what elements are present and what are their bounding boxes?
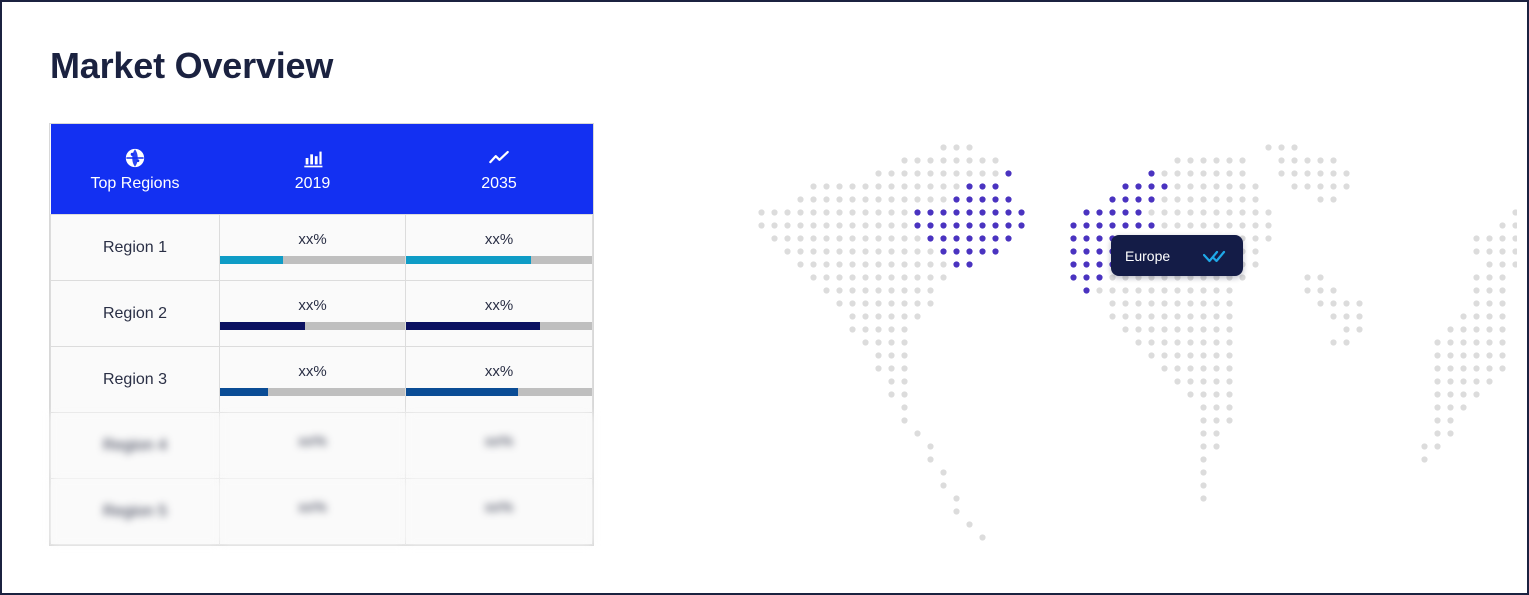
map-dot: [1226, 378, 1232, 384]
map-dot: [1460, 313, 1466, 319]
map-dot: [784, 248, 790, 254]
map-dot: [914, 196, 920, 202]
map-dot: [1122, 287, 1128, 293]
map-dot: [1174, 287, 1180, 293]
map-dot: [1200, 287, 1206, 293]
map-dot: [823, 222, 829, 228]
progress-bar-track: [406, 256, 592, 264]
map-dot-highlighted: [914, 209, 920, 215]
map-dot: [836, 261, 842, 267]
map-dot: [1330, 300, 1336, 306]
map-dot: [901, 248, 907, 254]
progress-bar-track: [406, 388, 592, 396]
map-dot: [823, 274, 829, 280]
map-dot: [1096, 287, 1102, 293]
map-dot: [875, 313, 881, 319]
map-dot: [1239, 170, 1245, 176]
map-dot: [940, 196, 946, 202]
map-dot: [1486, 326, 1492, 332]
map-dot: [1317, 287, 1323, 293]
map-dot: [940, 183, 946, 189]
page-title: Market Overview: [50, 46, 333, 86]
progress-bar-fill: [406, 322, 540, 330]
map-dot: [797, 209, 803, 215]
map-dot: [1213, 287, 1219, 293]
map-dot: [1265, 144, 1271, 150]
map-dot: [1187, 339, 1193, 345]
map-dot: [1265, 209, 1271, 215]
map-dot: [1330, 287, 1336, 293]
map-dot: [1226, 300, 1232, 306]
map-dot: [914, 287, 920, 293]
region-name-cell: Region 3: [51, 347, 220, 413]
map-dot: [1174, 196, 1180, 202]
map-dot: [1213, 391, 1219, 397]
map-dot: [1200, 157, 1206, 163]
map-dot: [888, 339, 894, 345]
column-header-2019[interactable]: 2019: [220, 124, 406, 215]
map-dot: [1239, 157, 1245, 163]
map-dot: [862, 261, 868, 267]
map-dot: [888, 170, 894, 176]
map-dot: [875, 248, 881, 254]
map-dot: [1473, 326, 1479, 332]
map-dot-highlighted: [1005, 235, 1011, 241]
metric-cell-2019: xx%: [220, 479, 406, 545]
map-dot: [1226, 196, 1232, 202]
map-dot: [1213, 326, 1219, 332]
map-dot: [862, 300, 868, 306]
map-dot: [1200, 456, 1206, 462]
map-dot-highlighted: [1096, 209, 1102, 215]
map-dot: [849, 261, 855, 267]
map-dot-highlighted: [1135, 196, 1141, 202]
map-dot: [862, 209, 868, 215]
map-dot-highlighted: [1148, 196, 1154, 202]
map-dot: [1252, 209, 1258, 215]
metric-value: xx%: [220, 298, 405, 313]
map-dot-highlighted: [1005, 170, 1011, 176]
map-dot: [1460, 391, 1466, 397]
map-dot: [1447, 365, 1453, 371]
map-dot: [1447, 352, 1453, 358]
map-dot: [940, 261, 946, 267]
map-dot: [1226, 157, 1232, 163]
map-dot: [1122, 300, 1128, 306]
map-dot: [862, 287, 868, 293]
map-dot: [914, 261, 920, 267]
map-dot: [1460, 326, 1466, 332]
metric-value: xx%: [406, 232, 592, 247]
map-dot: [1174, 209, 1180, 215]
map-dot: [1499, 235, 1505, 241]
map-dot: [1226, 170, 1232, 176]
map-dot: [1356, 300, 1362, 306]
metric-cell-2035: xx%: [406, 413, 593, 479]
map-dot-highlighted: [966, 183, 972, 189]
globe-icon: [124, 147, 146, 169]
map-dot: [810, 248, 816, 254]
map-dot-highlighted: [979, 222, 985, 228]
map-dot: [1200, 326, 1206, 332]
map-dot: [1200, 300, 1206, 306]
map-dot: [810, 183, 816, 189]
map-dot: [862, 326, 868, 332]
map-dot: [1278, 170, 1284, 176]
map-dot: [1239, 222, 1245, 228]
map-dot-highlighted: [953, 222, 959, 228]
map-dot: [1161, 365, 1167, 371]
map-dot: [927, 261, 933, 267]
map-dot: [888, 326, 894, 332]
map-dot: [1174, 170, 1180, 176]
map-dot: [1174, 352, 1180, 358]
map-dot-highlighted: [1096, 261, 1102, 267]
map-dot-highlighted: [1148, 183, 1154, 189]
table-row: Region 5xx%xx%: [51, 479, 593, 545]
map-dot: [1135, 313, 1141, 319]
map-dot: [1499, 300, 1505, 306]
map-dot: [1174, 365, 1180, 371]
map-dot: [1486, 248, 1492, 254]
map-dot: [940, 274, 946, 280]
map-dot-highlighted: [1070, 261, 1076, 267]
progress-bar-track: [406, 322, 592, 330]
map-dot: [1252, 248, 1258, 254]
map-dot: [1187, 378, 1193, 384]
map-dot-highlighted: [953, 235, 959, 241]
map-dot: [1213, 339, 1219, 345]
map-dot: [1226, 404, 1232, 410]
map-dot: [862, 222, 868, 228]
map-dot: [784, 235, 790, 241]
map-dot: [914, 248, 920, 254]
map-dot: [888, 365, 894, 371]
region-name-cell: Region 4: [51, 413, 220, 479]
map-dot: [1200, 482, 1206, 488]
map-dot: [940, 157, 946, 163]
map-dot: [1239, 196, 1245, 202]
map-dot: [875, 274, 881, 280]
map-dot: [1226, 365, 1232, 371]
map-dot-highlighted: [966, 248, 972, 254]
map-dot: [1200, 417, 1206, 423]
map-dot: [1148, 300, 1154, 306]
map-dot: [1135, 326, 1141, 332]
map-dot-highlighted: [1070, 248, 1076, 254]
map-dot-highlighted: [1148, 222, 1154, 228]
map-dot: [1434, 378, 1440, 384]
map-dot-highlighted: [940, 235, 946, 241]
map-dot: [1473, 287, 1479, 293]
map-dot: [862, 235, 868, 241]
market-overview-table: Top Regions: [50, 124, 593, 545]
map-dot: [888, 378, 894, 384]
map-dot: [1161, 313, 1167, 319]
column-header-top-regions[interactable]: Top Regions: [51, 124, 220, 215]
column-header-label: 2019: [295, 176, 331, 192]
map-dot: [888, 313, 894, 319]
map-dot: [1304, 183, 1310, 189]
map-dot: [1330, 339, 1336, 345]
map-dot: [1317, 300, 1323, 306]
map-dot: [836, 196, 842, 202]
map-dot: [875, 287, 881, 293]
map-dot: [849, 274, 855, 280]
map-dot: [1174, 326, 1180, 332]
map-dot: [1187, 326, 1193, 332]
map-dot: [1213, 417, 1219, 423]
map-dot: [1291, 170, 1297, 176]
map-dot: [1226, 417, 1232, 423]
map-dot: [1161, 300, 1167, 306]
map-dot-highlighted: [979, 209, 985, 215]
map-dot-highlighted: [1083, 287, 1089, 293]
map-dot: [1200, 404, 1206, 410]
map-dot: [1486, 287, 1492, 293]
map-dot: [927, 196, 933, 202]
world-map-dot-grid: [602, 122, 1517, 542]
map-dot: [953, 144, 959, 150]
map-dot: [1213, 222, 1219, 228]
map-dot: [1291, 144, 1297, 150]
table-header-row: Top Regions: [51, 124, 593, 215]
metric-value: xx%: [406, 434, 592, 449]
map-dot: [979, 157, 985, 163]
map-dot: [953, 157, 959, 163]
map-dot: [888, 235, 894, 241]
map-dot: [1213, 352, 1219, 358]
map-dot-highlighted: [940, 209, 946, 215]
map-dot: [888, 261, 894, 267]
map-dot: [1447, 326, 1453, 332]
map-dot: [927, 170, 933, 176]
map-dot: [823, 183, 829, 189]
map-dot: [953, 183, 959, 189]
map-dot: [1486, 339, 1492, 345]
map-dot: [914, 430, 920, 436]
map-dot-highlighted: [914, 222, 920, 228]
region-name-cell: Region 1: [51, 215, 220, 281]
map-dot: [1174, 183, 1180, 189]
map-dot: [1343, 326, 1349, 332]
map-dot: [1200, 313, 1206, 319]
map-dot: [1187, 287, 1193, 293]
map-dot: [901, 274, 907, 280]
map-dot: [823, 261, 829, 267]
map-dot: [1252, 183, 1258, 189]
map-dot: [797, 196, 803, 202]
map-dot: [823, 248, 829, 254]
map-dot-highlighted: [1083, 261, 1089, 267]
map-dot: [823, 196, 829, 202]
metric-value: xx%: [406, 298, 592, 313]
map-dot: [1343, 313, 1349, 319]
map-dot-highlighted: [1122, 196, 1128, 202]
map-dot: [1187, 170, 1193, 176]
map-dot: [901, 326, 907, 332]
map-dot: [758, 209, 764, 215]
map-dot: [1278, 144, 1284, 150]
map-dot-highlighted: [966, 222, 972, 228]
map-dot-highlighted: [1135, 183, 1141, 189]
map-dot: [875, 339, 881, 345]
map-dot: [1174, 313, 1180, 319]
map-dot: [1265, 222, 1271, 228]
map-dot: [901, 352, 907, 358]
map-dot: [1473, 248, 1479, 254]
map-dot: [1486, 352, 1492, 358]
map-dot: [966, 521, 972, 527]
table-row: Region 1xx%xx%: [51, 215, 593, 281]
map-dot: [1109, 274, 1115, 280]
map-dot-highlighted: [1135, 222, 1141, 228]
map-dot: [1291, 183, 1297, 189]
map-dot: [810, 261, 816, 267]
map-dot: [1148, 287, 1154, 293]
map-dot: [1187, 300, 1193, 306]
map-dot: [1174, 300, 1180, 306]
map-dot: [1434, 443, 1440, 449]
map-dot: [810, 209, 816, 215]
map-dot: [836, 248, 842, 254]
map-dot: [927, 248, 933, 254]
column-header-2035[interactable]: 2035: [406, 124, 593, 215]
map-dot: [1213, 300, 1219, 306]
map-dot: [1226, 313, 1232, 319]
map-dot: [1161, 326, 1167, 332]
map-dot: [1200, 339, 1206, 345]
map-dot: [1200, 222, 1206, 228]
map-dot: [1213, 313, 1219, 319]
map-dot: [888, 183, 894, 189]
map-dot: [888, 391, 894, 397]
map-dot: [1356, 326, 1362, 332]
table-row: Region 2xx%xx%: [51, 281, 593, 347]
map-tooltip-europe[interactable]: Europe: [1111, 235, 1243, 276]
map-dot-highlighted: [1070, 235, 1076, 241]
map-dot-highlighted: [953, 209, 959, 215]
map-dot: [1161, 339, 1167, 345]
metric-cell-2019: xx%: [220, 215, 406, 281]
map-dot: [901, 235, 907, 241]
map-dot: [1317, 274, 1323, 280]
map-dot: [1343, 339, 1349, 345]
metric-value: xx%: [406, 500, 592, 515]
map-dot-highlighted: [992, 196, 998, 202]
progress-bar-fill: [220, 388, 268, 396]
metric-value: xx%: [220, 500, 405, 515]
map-dot: [927, 300, 933, 306]
map-dot: [1486, 261, 1492, 267]
map-dot-highlighted: [1018, 209, 1024, 215]
map-dot: [836, 300, 842, 306]
map-dot: [927, 287, 933, 293]
map-dot: [901, 287, 907, 293]
map-dot: [810, 222, 816, 228]
column-header-label: Top Regions: [91, 176, 180, 192]
map-dot: [1473, 365, 1479, 371]
map-dot: [1174, 339, 1180, 345]
map-dot: [927, 456, 933, 462]
map-dot: [1109, 300, 1115, 306]
world-map[interactable]: [602, 122, 1517, 542]
map-dot: [1161, 287, 1167, 293]
map-dot: [1447, 404, 1453, 410]
map-dot: [1499, 261, 1505, 267]
progress-bar-fill: [406, 256, 531, 264]
map-dot: [1252, 235, 1258, 241]
map-dot-highlighted: [1083, 274, 1089, 280]
table-row: Region 4xx%xx%: [51, 413, 593, 479]
table-body: Region 1xx%xx%Region 2xx%xx%Region 3xx%x…: [51, 215, 593, 545]
map-dot-highlighted: [1122, 209, 1128, 215]
trending-up-icon: [488, 147, 510, 169]
progress-bar-fill: [220, 256, 283, 264]
map-dot: [1447, 378, 1453, 384]
map-dot: [875, 352, 881, 358]
map-dot: [1226, 326, 1232, 332]
map-dot-highlighted: [1005, 196, 1011, 202]
map-dot: [992, 170, 998, 176]
map-dot: [1226, 391, 1232, 397]
metric-cell-2035: xx%: [406, 347, 593, 413]
map-dot: [1226, 339, 1232, 345]
map-dot: [1213, 404, 1219, 410]
metric-cell-2019: xx%: [220, 281, 406, 347]
map-dot: [810, 235, 816, 241]
double-check-icon: [1203, 248, 1229, 264]
map-dot: [1512, 222, 1517, 228]
table-row: Region 3xx%xx%: [51, 347, 593, 413]
map-dot: [1226, 352, 1232, 358]
map-dot-highlighted: [927, 222, 933, 228]
map-dot: [1499, 313, 1505, 319]
map-dot: [901, 417, 907, 423]
map-dot: [1447, 417, 1453, 423]
map-dot: [1486, 313, 1492, 319]
map-dot: [1226, 287, 1232, 293]
map-dot: [771, 235, 777, 241]
map-dot: [1499, 365, 1505, 371]
map-dot-highlighted: [1070, 222, 1076, 228]
map-dot: [888, 274, 894, 280]
map-dot: [1174, 222, 1180, 228]
map-dot: [875, 183, 881, 189]
map-dot: [849, 287, 855, 293]
map-dot: [758, 222, 764, 228]
map-dot: [914, 235, 920, 241]
map-dot: [1200, 352, 1206, 358]
map-dot-highlighted: [992, 183, 998, 189]
map-dot: [1200, 430, 1206, 436]
map-dot: [1434, 391, 1440, 397]
map-dot: [901, 209, 907, 215]
map-dot-highlighted: [953, 196, 959, 202]
map-dot: [862, 248, 868, 254]
map-dot: [1135, 339, 1141, 345]
map-dot: [797, 235, 803, 241]
map-dot: [1187, 365, 1193, 371]
map-dot-highlighted: [1083, 235, 1089, 241]
map-dot-highlighted: [992, 222, 998, 228]
map-dot: [1330, 170, 1336, 176]
map-dot-highlighted: [1109, 196, 1115, 202]
map-dot: [1473, 339, 1479, 345]
map-dot: [940, 170, 946, 176]
metric-cell-2019: xx%: [220, 413, 406, 479]
map-dot-highlighted: [979, 183, 985, 189]
